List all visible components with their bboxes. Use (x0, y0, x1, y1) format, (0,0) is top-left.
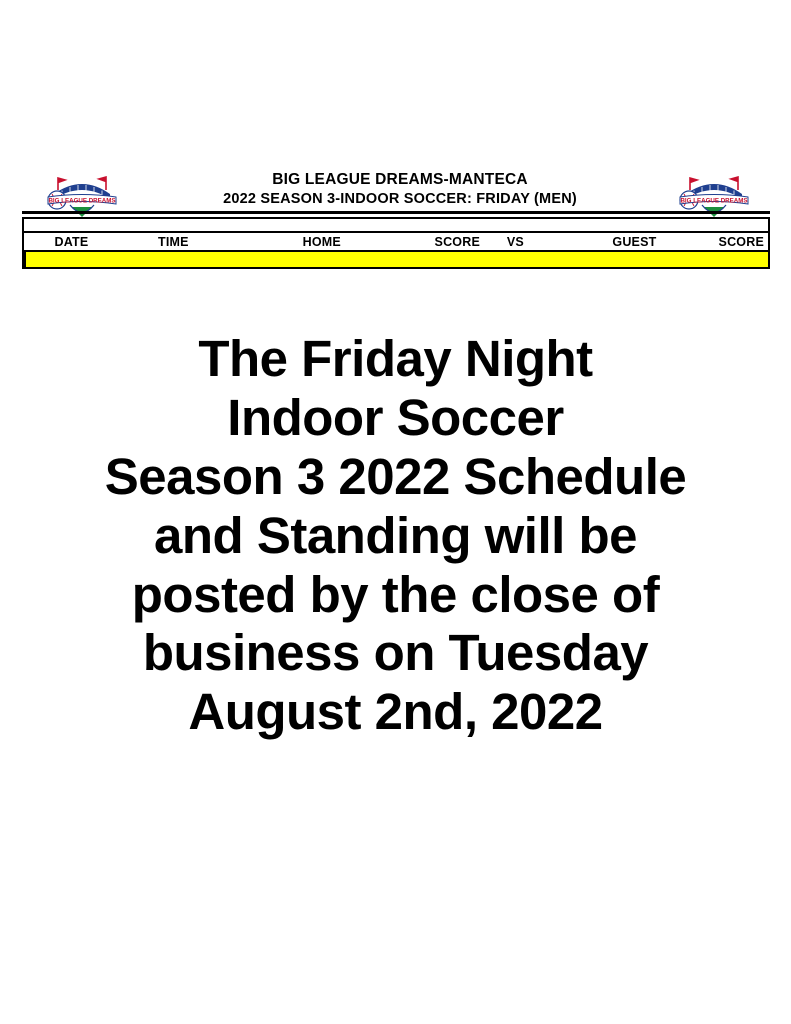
header-title-line-2: 2022 SEASON 3-INDOOR SOCCER: FRIDAY (MEN… (150, 190, 650, 209)
svg-text:BIG LEAGUE DREAMS: BIG LEAGUE DREAMS (48, 198, 115, 205)
notice-line: business on Tuesday (0, 624, 791, 683)
header-title-line-1: BIG LEAGUE DREAMS-MANTECA (150, 170, 650, 190)
table-top-spacer-row (24, 219, 768, 233)
table-highlight-row (24, 252, 768, 267)
column-header-home: HOME (228, 235, 416, 249)
notice-message: The Friday NightIndoor SoccerSeason 3 20… (0, 330, 791, 742)
schedule-table: DATE TIME HOME SCORE VS GUEST SCORE (22, 217, 770, 269)
svg-text:BIG LEAGUE DREAMS: BIG LEAGUE DREAMS (680, 198, 747, 205)
notice-line: and Standing will be (0, 507, 791, 566)
notice-line: The Friday Night (0, 330, 791, 389)
column-header-time: TIME (119, 235, 228, 249)
table-header-row: DATE TIME HOME SCORE VS GUEST SCORE (24, 233, 768, 252)
header-divider-rule (22, 211, 770, 214)
column-header-date: DATE (24, 235, 119, 249)
column-header-home-score: SCORE (416, 235, 499, 249)
notice-line: Season 3 2022 Schedule (0, 448, 791, 507)
page-header: BIG LEAGUE DREAMS BIG LEAGUE DREAMS-MANT… (0, 168, 791, 214)
column-header-vs: VS (499, 235, 551, 249)
column-header-guest: GUEST (550, 235, 718, 249)
title-block: BIG LEAGUE DREAMS-MANTECA 2022 SEASON 3-… (150, 170, 650, 208)
notice-line: posted by the close of (0, 566, 791, 625)
column-header-guest-score: SCORE (719, 235, 768, 249)
notice-line: Indoor Soccer (0, 389, 791, 448)
notice-line: August 2nd, 2022 (0, 683, 791, 742)
